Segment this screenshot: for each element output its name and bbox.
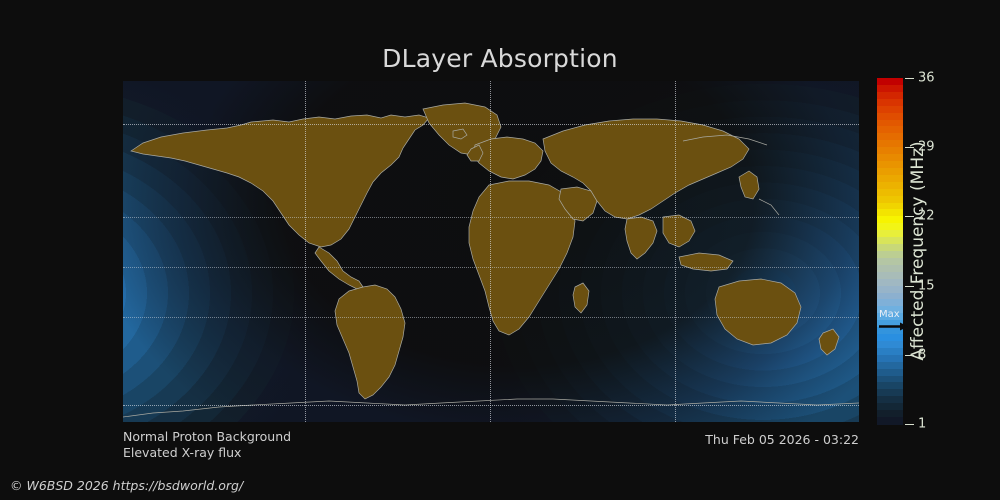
colorbar-tick-label: 15 — [918, 279, 935, 292]
gridline-vertical-1 — [305, 81, 306, 422]
colorbar-tick — [905, 286, 914, 287]
colorbar[interactable] — [877, 78, 903, 424]
colorbar-tick-label: 29 — [918, 141, 935, 154]
gridline-arctic-circle — [123, 124, 859, 125]
dlayer-absorption-screen: DLayer Absorption — [0, 0, 1000, 500]
note-line-2: Elevated X-ray flux — [123, 445, 291, 461]
colorbar-tick — [905, 355, 914, 356]
timestamp: Thu Feb 05 2026 - 03:22 — [705, 432, 859, 447]
gridline-tropic-capricorn — [123, 317, 859, 318]
colorbar-tick — [905, 147, 914, 148]
status-notes: Normal Proton Background Elevated X-ray … — [123, 429, 291, 461]
gridline-tropic-cancer — [123, 217, 859, 218]
colorbar-axis-label: Affected Frequency (MHz) — [905, 78, 931, 424]
colorbar-tick-label: 1 — [918, 418, 926, 431]
gridline-vertical-3 — [675, 81, 676, 422]
colorbar-segment — [877, 417, 903, 425]
gridline-equator — [123, 267, 859, 268]
world-absorption-map[interactable] — [123, 81, 859, 422]
note-line-1: Normal Proton Background — [123, 429, 291, 445]
antarctica-coastline — [123, 399, 859, 417]
landmasses — [131, 103, 839, 399]
colorbar-tick — [905, 78, 914, 79]
page-title: DLayer Absorption — [0, 44, 1000, 73]
colorbar-tick — [905, 216, 914, 217]
coastline-overlay — [123, 81, 859, 422]
colorbar-tick — [905, 424, 914, 425]
gridline-antarctic-circle — [123, 405, 859, 406]
colorbar-tick-label: 36 — [918, 72, 935, 85]
gridline-vertical-2 — [490, 81, 491, 422]
copyright-footer: © W6BSD 2026 https://bsdworld.org/ — [10, 478, 243, 493]
colorbar-tick-label: 8 — [918, 348, 926, 361]
colorbar-tick-label: 22 — [918, 210, 935, 223]
